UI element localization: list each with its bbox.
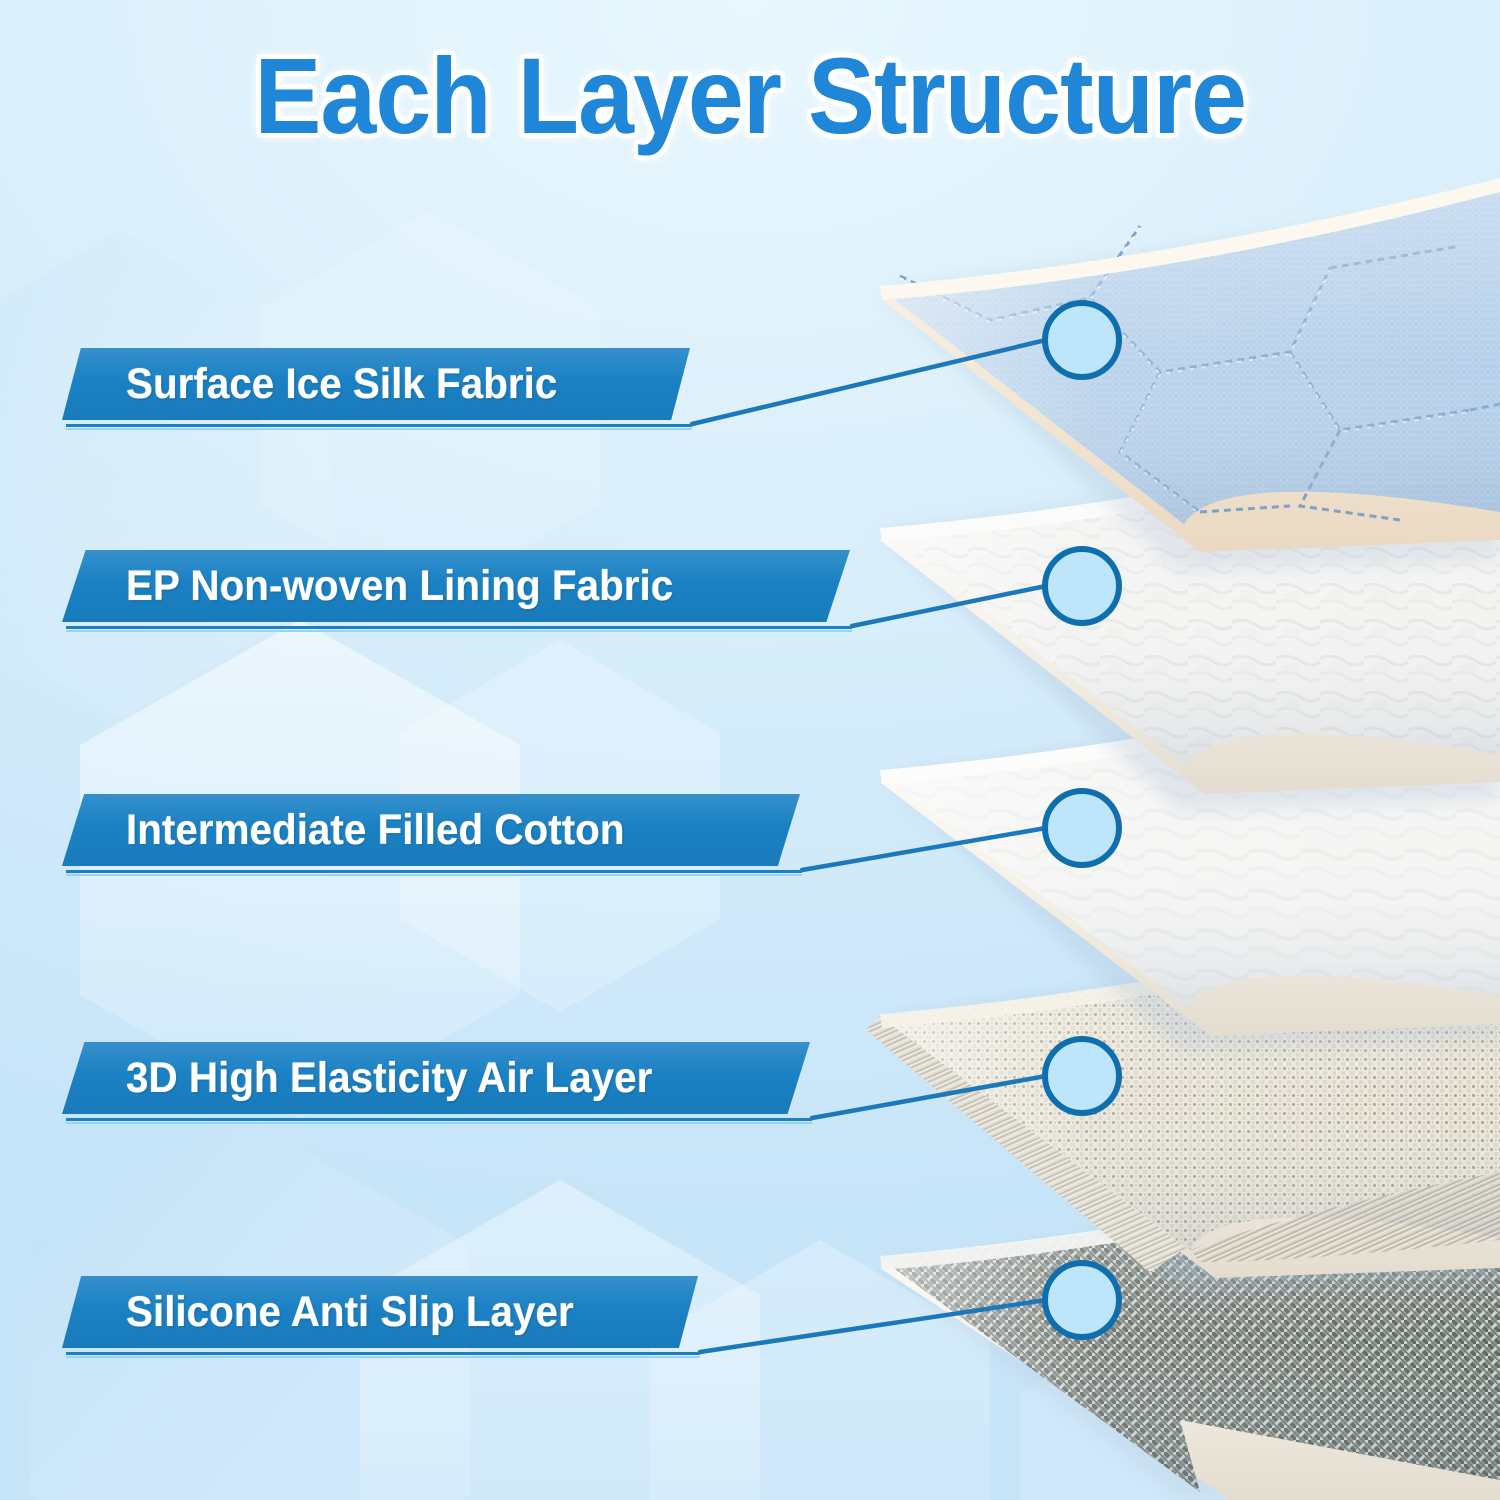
layer-1-ice-silk bbox=[880, 178, 1500, 572]
banner-underline-2 bbox=[66, 626, 852, 633]
callout-circle-3[interactable] bbox=[1042, 788, 1122, 868]
callout-banner-3[interactable]: Intermediate Filled Cotton bbox=[62, 794, 800, 866]
callout-banner-4[interactable]: 3D High Elasticity Air Layer bbox=[62, 1042, 810, 1114]
infographic-canvas: Each Layer Structure bbox=[0, 0, 1500, 1500]
callout-banner-2[interactable]: EP Non-woven Lining Fabric bbox=[62, 550, 850, 622]
layer-label-4: 3D High Elasticity Air Layer bbox=[126, 1057, 652, 1100]
banner-underline-3 bbox=[66, 870, 802, 877]
layer-label-3: Intermediate Filled Cotton bbox=[126, 809, 625, 852]
callout-circle-4[interactable] bbox=[1042, 1036, 1122, 1116]
callout-circle-1[interactable] bbox=[1042, 300, 1122, 380]
callout-circle-5[interactable] bbox=[1042, 1260, 1122, 1340]
callout-circle-2[interactable] bbox=[1042, 546, 1122, 626]
callout-banner-1[interactable]: Surface Ice Silk Fabric bbox=[62, 348, 690, 420]
layer-label-5: Silicone Anti Slip Layer bbox=[126, 1291, 574, 1334]
banner-underline-4 bbox=[66, 1118, 812, 1125]
banner-underline-5 bbox=[66, 1352, 700, 1359]
layer-label-2: EP Non-woven Lining Fabric bbox=[126, 565, 673, 608]
banner-underline-1 bbox=[66, 424, 692, 431]
callout-banner-5[interactable]: Silicone Anti Slip Layer bbox=[62, 1276, 698, 1348]
layer-label-1: Surface Ice Silk Fabric bbox=[126, 363, 557, 406]
layer-stack-illustration bbox=[0, 0, 1500, 1500]
